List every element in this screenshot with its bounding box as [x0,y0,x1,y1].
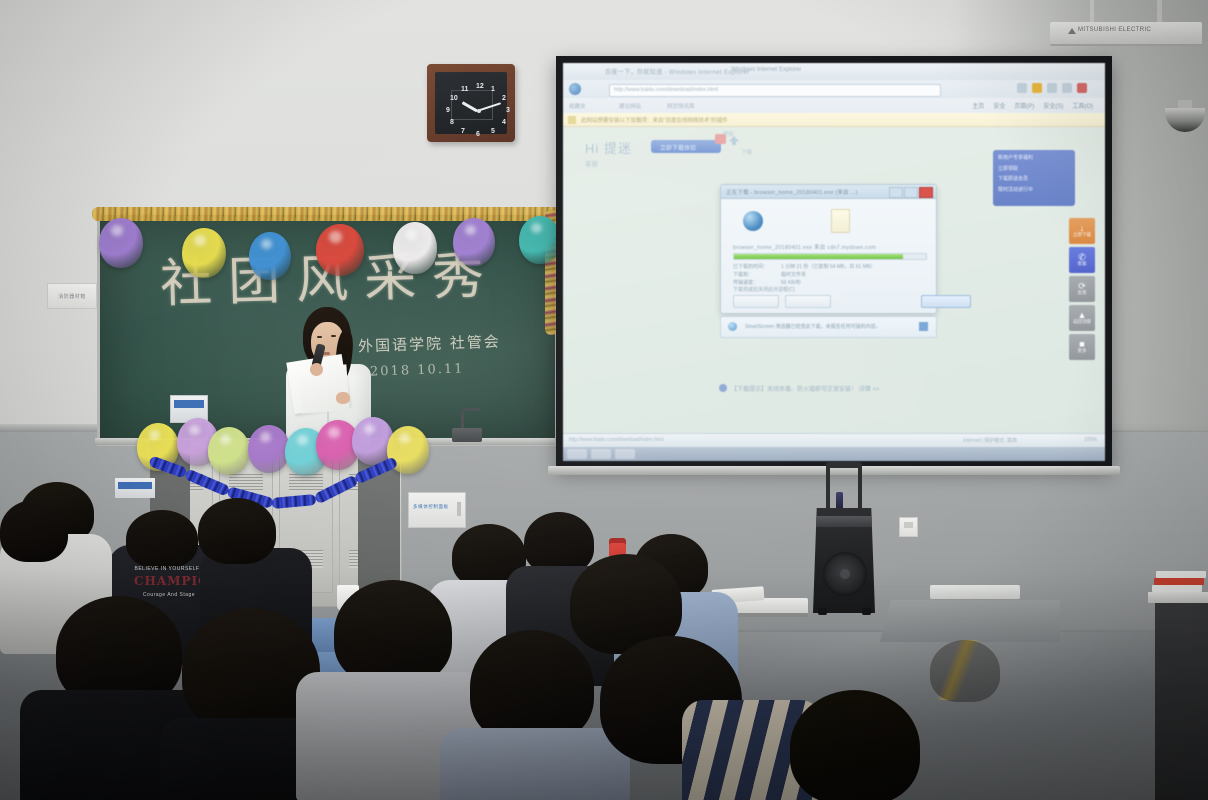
taskbar-start-icon[interactable] [567,449,587,459]
smartscreen-action-icon[interactable] [919,322,928,331]
download-dialog[interactable]: 正在下载 - browser_home_20180401.exe (来自 ...… [720,184,937,314]
address-value: http://www.baidu.com/download/index.html [614,87,718,93]
presenter-hand-mic [310,363,323,376]
tooltip-line-3: 限时活动进行中 [998,187,1070,195]
dialog-row-label-1: 下载到： [733,271,753,278]
download-cta-button[interactable]: 立即下载体验 [651,140,721,153]
presenter-hand-paper [336,392,350,404]
balloon-top [99,218,143,268]
address-bar[interactable]: http://www.baidu.com/download/index.html [609,84,941,97]
browser-title-bar: 百度一下，你就知道 - Windows Internet Explorer Wi… [563,63,1105,80]
balloon-top [519,216,561,264]
browser-info-bar[interactable]: 此网站想要安装以下加载项：来自“百度在线网络技术”的插件 [563,113,1105,127]
classroom-photo-scene: MITSUBISHI ELECTRIC 121234567891011 消防器材… [0,0,1208,800]
favorites-item-1[interactable]: 建议网站 [619,102,641,110]
browser-command-bar: 主页 安全 页面(P) 安全(S) 工具(O) [972,101,1093,110]
clock-pivot [477,109,481,113]
clock-number: 8 [450,119,454,126]
balloon-top [182,228,226,278]
shield-icon [568,116,576,124]
sidebar-item-label: 反馈 [1078,291,1087,296]
wall-outlet [899,517,918,537]
balloon-top [316,224,364,276]
dialog-row-value-0: 1 分钟 21 秒（已复制 54 MB，共 61 MB） [781,263,875,270]
clock-number: 4 [502,119,506,126]
clock-number: 10 [450,95,458,102]
speaker-wheel [818,608,827,615]
clock-number: 12 [476,83,484,90]
page-icon-label-2: 更新 [723,130,734,138]
balloon-top [249,232,291,280]
speaker-wheel [862,608,871,615]
student-head [0,500,68,562]
sidebar-tooltip: 新用户专享福利 立即领取 下载即送会员 限时活动进行中 [993,150,1075,206]
info-bar-text: 此网站想要安装以下加载项：来自“百度在线网络技术”的插件 [581,116,728,124]
sidebar-item-4[interactable]: ■更多 [1069,334,1095,360]
student-head-front [470,630,594,744]
speaker-woofer-cone [823,552,867,596]
speaker-tweeter-grill [816,516,872,527]
side-desk [1155,600,1208,800]
jacket-text-bottom: Courage And Stage [133,592,205,598]
open-button[interactable] [921,295,971,308]
ac-brand-label: MITSUBISHI ELECTRIC [1078,27,1151,33]
page-greeting: Hi 提迷 [585,138,632,157]
balloon-top [453,218,495,266]
open-folder-button[interactable] [785,295,831,308]
student-torso-front [440,728,630,800]
page-subtext: 客服 [585,158,598,168]
clock-number: 7 [461,128,465,135]
download-cta-label: 立即下载体验 [660,143,696,152]
page-icon-label: 下载 [741,148,752,156]
dialog-title-bar: 正在下载 - browser_home_20180401.exe (来自 ...… [721,185,936,199]
av-control-panel[interactable]: 多媒体控制面板 [408,492,466,528]
balloon-top [393,222,437,274]
sidebar-item-2[interactable]: ⟳反馈 [1069,276,1095,302]
sidebar-item-1[interactable]: ✆客服 [1069,247,1095,273]
jacket-text-top: BELIEVE IN YOURSELF [128,566,206,572]
student-head-front [790,690,920,800]
minimize-icon[interactable] [889,187,903,198]
wall-sign: 消防器材箱 [47,283,97,309]
smartscreen-text: SmartScreen 筛选器已检查此下载，未报告任何可疑的内容。 [745,323,881,330]
presenter-eye-left [317,336,322,338]
page-footer-text: 【下载提示】关闭杀毒、防火墙即可正常安装！ [731,387,857,393]
taskbar-app-icon[interactable] [615,449,635,459]
browser-window-title: 百度一下，你就知道 - Windows Internet Explorer [605,67,750,76]
wireless-mic-icon [836,492,843,510]
menu-item-4[interactable]: 工具(O) [1072,101,1093,110]
student-desk [930,585,1020,599]
refresh-icon[interactable] [1062,83,1072,93]
clock-number: 3 [506,107,510,114]
file-icon [831,209,850,233]
address-bar-icons [1017,83,1087,93]
download-file-name: browser_home_20180401.exe 来自 cdn7.mydown… [733,243,876,251]
sidebar-item-label: 客服 [1078,262,1087,267]
tooltip-line-0: 新用户专享福利 [998,155,1070,163]
browser-status-bar: http://www.baidu.com/download/index.html… [563,433,1105,447]
podium-vent [289,474,323,492]
windows-taskbar [563,447,1105,461]
student-head [198,498,276,564]
side-desk-top [1148,592,1208,603]
book-stack-item [1152,585,1202,592]
dialog-row-value-1: 临时文件夹 [781,271,806,278]
maximize-icon[interactable] [904,187,918,198]
download-progress-bar [733,253,927,260]
web-page-body: Hi 提迷 立即下载体验 客服 更新 下载 正在下载 - browser_hom… [563,126,1105,441]
cancel-button[interactable] [733,295,779,308]
speaker-handle-left [826,465,830,511]
tinsel-garland-top [92,207,560,221]
close-when-done-checkbox-label[interactable]: 下载完成后关闭此对话框(C) [733,286,795,293]
clock-number: 9 [446,107,450,114]
clock-face: 121234567891011 [435,72,507,134]
status-url: http://www.baidu.com/download/index.html [569,437,664,443]
tooltip-line-1: 立即领取 [998,166,1070,174]
speaker-handle-top [826,462,862,468]
student-head-front [334,580,452,686]
close-icon[interactable] [919,187,933,198]
browser-window-title-right: Windows Internet Explorer [731,67,801,73]
dialog-title: 正在下载 - browser_home_20180401.exe (来自 ...… [726,188,858,196]
sidebar-item-label: 立即下载 [1073,233,1091,238]
stop-icon[interactable] [1077,83,1087,93]
ac-pipe-secondary [1090,0,1094,24]
tooltip-line-2: 下载即送会员 [998,176,1070,184]
presenter-eye-right [331,335,336,337]
floor-platform-step [880,600,1060,642]
menu-item-0[interactable]: 主页 [972,101,984,110]
wall-junction-box [452,428,482,442]
student-head-far [930,640,1000,702]
taskbar-app-icon[interactable] [591,449,611,459]
clock-number: 2 [502,95,506,102]
clock-number: 5 [491,128,495,135]
student-head [524,512,594,574]
info-icon [719,384,727,392]
status-zoom[interactable]: 100% [1084,437,1097,443]
globe-icon [743,211,763,231]
wall-cable-horizontal [462,408,480,411]
dialog-row-value-2: 56 KB/秒 [781,279,801,286]
smartscreen-icon [728,322,737,331]
projected-desktop: 百度一下，你就知道 - Windows Internet Explorer Wi… [563,63,1105,461]
balloon-podium [248,425,290,473]
smartscreen-notice: SmartScreen 筛选器已检查此下载，未报告任何可疑的内容。 [720,316,937,338]
wall-sign-label: 消防器材箱 [58,293,86,300]
chevron-down-icon[interactable] [1017,83,1027,93]
student-head [126,510,198,568]
dialog-row-label-0: 已下载的时间： [733,263,768,270]
sidebar-item-label: 返回顶部 [1073,320,1091,325]
clock-number: 11 [461,86,468,93]
clock-number: 6 [476,131,480,138]
back-arrow-icon[interactable] [569,83,581,95]
sidebar-item-0[interactable]: ↓立即下载 [1069,218,1095,244]
wall-label-plate [115,478,155,498]
page-footer-link[interactable]: 【下载提示】关闭杀毒、防火墙即可正常安装！ 详情 >> [731,384,879,393]
menu-item-3[interactable]: 安全(S) [1043,101,1063,110]
air-conditioner-unit [1050,22,1202,46]
presenter-script-paper-2 [298,364,349,413]
dialog-button-row [733,295,831,308]
dialog-row-label-2: 传输速度： [733,279,758,286]
speaker-handle-right [858,465,862,511]
mitsubishi-logo-icon [1068,28,1076,34]
control-panel-label: 多媒体控制面板 [413,504,449,510]
book-stack-item [1156,571,1206,578]
clock-number: 1 [491,86,495,93]
balloon-podium [208,427,250,475]
favorites-item-2[interactable]: 网页快讯库 [667,102,695,110]
sidebar-item-label: 更多 [1078,349,1087,354]
control-panel-knob[interactable] [457,502,461,516]
favorites-item-0[interactable]: 收藏夹 [569,102,586,110]
lock-icon [1032,83,1042,93]
page-footer-extra[interactable]: 详情 >> [859,387,880,393]
sidebar-item-3[interactable]: ▲返回顶部 [1069,305,1095,331]
book-stack-item [1154,578,1204,585]
status-zone: Internet | 保护模式: 禁用 [963,437,1017,444]
menu-item-2[interactable]: 页面(P) [1014,101,1034,110]
compatibility-icon[interactable] [1047,83,1057,93]
floating-sidebar: ↓立即下载✆客服⟳反馈▲返回顶部■更多 [1069,218,1095,363]
wall-clock: 121234567891011 [427,64,515,142]
menu-item-1[interactable]: 安全 [993,101,1005,110]
projection-screen: 百度一下，你就知道 - Windows Internet Explorer Wi… [556,56,1112,468]
